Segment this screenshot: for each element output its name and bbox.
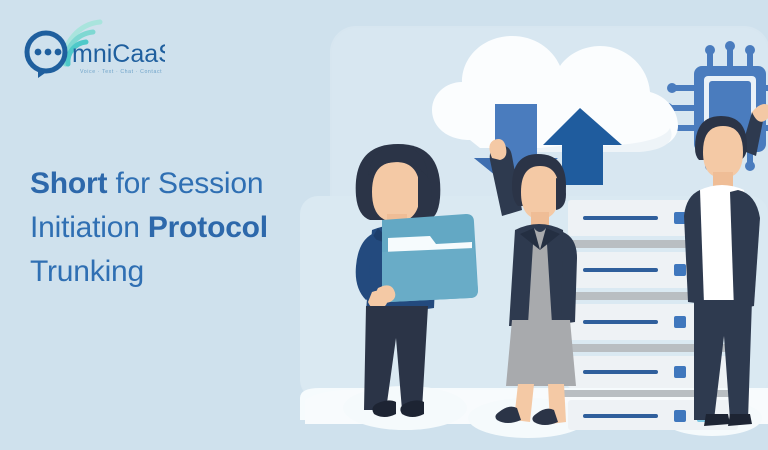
headline-text-1: for Session xyxy=(107,167,263,200)
headline-line-1: Short for Session xyxy=(30,162,360,206)
headline-line-3: Trunking xyxy=(30,250,360,294)
speech-bubble-icon xyxy=(27,33,65,78)
omnicaas-logo[interactable]: mniCaaS Voice · Text · Chat · Contact xyxy=(20,16,165,78)
headline-bold-protocol: Protocol xyxy=(148,211,268,244)
headline-text-2: Initiation xyxy=(30,211,148,244)
logo-brand-text: mniCaaS xyxy=(72,40,165,68)
banner-headline: Short for Session Initiation Protocol Tr… xyxy=(30,162,360,294)
headline-bold-short: Short xyxy=(30,167,107,200)
folder-icon xyxy=(374,214,478,303)
logo-tagline: Voice · Text · Chat · Contact xyxy=(80,69,162,75)
headline-text-3: Trunking xyxy=(30,255,144,288)
headline-line-2: Initiation Protocol xyxy=(30,206,360,250)
banner-root: mniCaaS Voice · Text · Chat · Contact Sh… xyxy=(0,0,768,450)
